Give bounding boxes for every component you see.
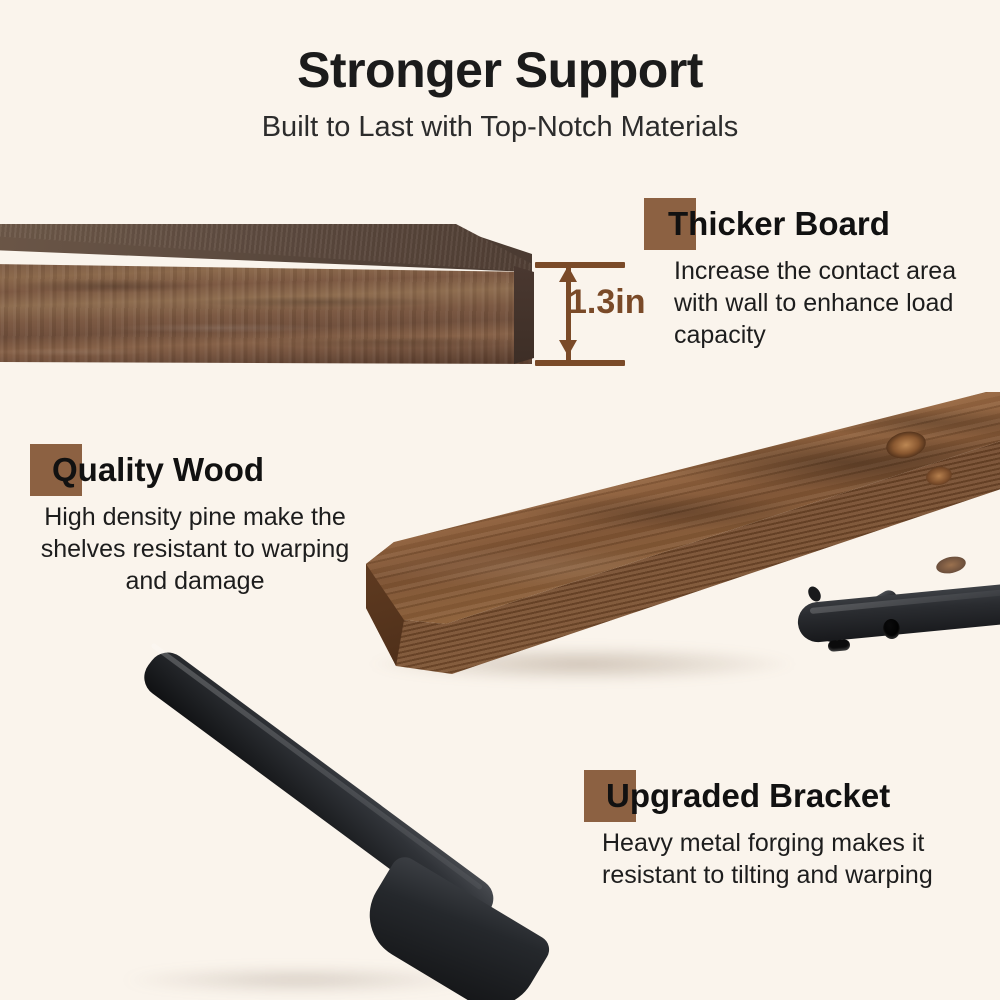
- infographic-canvas: Stronger Support Built to Last with Top-…: [0, 0, 1000, 1000]
- top-board-right-end: [514, 266, 534, 364]
- callout-body: Increase the contact area with wall to e…: [644, 256, 989, 351]
- bracket-slot-hole: [828, 639, 851, 652]
- top-board-image: [0, 224, 538, 364]
- thickness-dimension: 1.3in: [535, 262, 655, 366]
- main-bracket-image: [0, 620, 620, 1000]
- dimension-tick-bottom: [535, 360, 625, 366]
- page-title: Stronger Support: [0, 44, 1000, 97]
- callout-thicker-board: Thicker Board Increase the contact area …: [644, 198, 989, 351]
- callout-heading: Thicker Board: [644, 198, 989, 250]
- dimension-arrowhead-down-icon: [559, 340, 577, 356]
- callout-body: Heavy metal forging makes it resistant t…: [584, 828, 984, 892]
- bracket-plate-highlight: [151, 642, 484, 890]
- dimension-arrowhead-up-icon: [559, 266, 577, 282]
- callout-heading: Upgraded Bracket: [584, 770, 984, 822]
- page-subtitle: Built to Last with Top-Notch Materials: [0, 112, 1000, 144]
- right-bracket-image: [786, 568, 1000, 678]
- callout-heading: Quality Wood: [30, 444, 360, 496]
- callout-quality-wood: Quality Wood High density pine make the …: [30, 444, 360, 597]
- callout-body: High density pine make the shelves resis…: [30, 502, 354, 597]
- top-board-grain: [0, 268, 532, 364]
- callout-upgraded-bracket: Upgraded Bracket Heavy metal forging mak…: [584, 770, 984, 892]
- dimension-tick-top: [535, 262, 625, 268]
